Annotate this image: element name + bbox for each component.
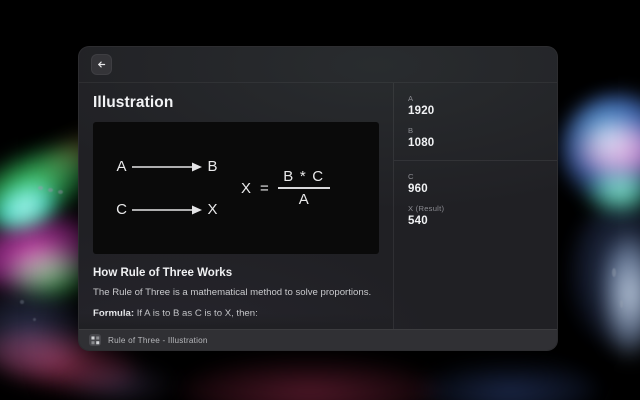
sidebar-value-a: 1920 [408, 105, 543, 117]
values-sidebar: A 1920 B 1080 C 960 X (Result) [393, 83, 557, 329]
arrow-right-icon [130, 204, 204, 216]
sidebar-field-b: B 1080 [408, 126, 543, 149]
sidebar-value-x: 540 [408, 215, 543, 227]
explanation-formula-label: Formula: [93, 308, 134, 319]
explanation-heading: How Rule of Three Works [93, 267, 379, 279]
sidebar-label-a: A [408, 94, 543, 103]
relation-from-c: C [115, 201, 128, 218]
explanation-formula-line: Formula: If A is to B as C is to X, then… [93, 307, 379, 321]
app-grid-icon [89, 334, 101, 346]
formula-fraction: B * C A [278, 168, 330, 208]
relation-to-b: B [206, 158, 219, 175]
sidebar-group-result: C 960 X (Result) 540 [394, 160, 557, 238]
back-button[interactable] [91, 54, 112, 75]
relation-to-x: X [206, 201, 219, 218]
window-body: Illustration A B [79, 83, 557, 329]
sidebar-group-inputs: A 1920 B 1080 [394, 83, 557, 160]
main-content: Illustration A B [79, 83, 393, 329]
illustration-window: Illustration A B [78, 46, 558, 351]
arrow-right-icon [130, 161, 204, 173]
explanation-paragraph: The Rule of Three is a mathematical meth… [93, 286, 379, 300]
screen: Illustration A B [0, 0, 640, 400]
formula-denominator: A [299, 189, 309, 208]
formula-numerator: B * C [278, 168, 329, 187]
formula-lhs: X [241, 180, 251, 197]
status-bar: Rule of Three - Illustration [79, 329, 557, 350]
explanation-formula-text: If A is to B as C is to X, then: [134, 308, 258, 319]
sidebar-value-b: 1080 [408, 137, 543, 149]
formula-display: X = B * C A [241, 168, 330, 208]
relation-from-a: A [115, 158, 128, 175]
sidebar-field-a: A 1920 [408, 94, 543, 117]
sidebar-value-c: 960 [408, 183, 543, 195]
status-bar-label: Rule of Three - Illustration [108, 336, 208, 345]
page-title: Illustration [93, 94, 379, 112]
sidebar-field-c: C 960 [408, 172, 543, 195]
explanation-section: How Rule of Three Works The Rule of Thre… [93, 267, 379, 322]
relation-row-cx: C X [115, 201, 235, 218]
relation-diagram: A B C [93, 158, 235, 218]
window-topbar [79, 47, 557, 83]
illustration-canvas: A B C [93, 122, 379, 254]
sidebar-label-b: B [408, 126, 543, 135]
sidebar-field-x: X (Result) 540 [408, 204, 543, 227]
sidebar-label-x: X (Result) [408, 204, 543, 213]
sidebar-label-c: C [408, 172, 543, 181]
relation-row-ab: A B [115, 158, 235, 175]
arrow-left-icon [96, 59, 107, 70]
formula-equals: = [260, 180, 269, 197]
